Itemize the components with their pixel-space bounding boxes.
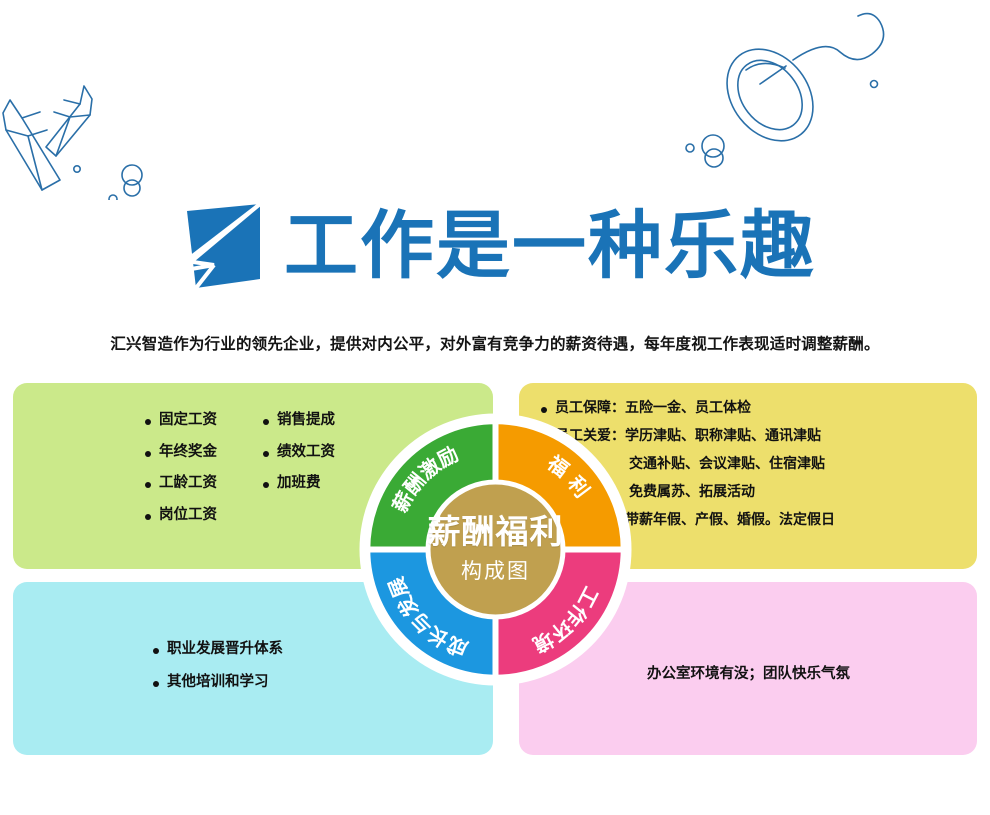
list-item-label: 免费属苏、拓展活动	[629, 485, 755, 499]
list-item: 固定工资	[145, 413, 217, 428]
work-environment-text: 办公室环境有没；团队快乐气氛	[647, 662, 850, 683]
header-decoration	[0, 0, 990, 200]
list-item-label: 职业发展晋升体系	[167, 642, 283, 657]
subtitle-text: 汇兴智造作为行业的领先企业，提供对内公平，对外富有竞争力的薪资待遇，每年度视工作…	[0, 332, 990, 354]
list-item: 年终奖金	[145, 445, 217, 460]
compensation-column-1: 固定工资 年终奖金 工龄工资 岗位工资	[145, 413, 217, 539]
list-item: 销售提成	[263, 413, 335, 428]
bullet-dot-icon	[145, 419, 151, 425]
mouse-icon	[709, 14, 883, 158]
bullet-dot-icon	[263, 419, 269, 425]
list-item-label: 年终奖金	[159, 445, 217, 460]
growth-list: 职业发展晋升体系 其他培训和学习	[153, 642, 283, 707]
compensation-columns: 固定工资 年终奖金 工龄工资 岗位工资 销售提成 绩效工资 加班费	[145, 413, 335, 539]
list-item-label: 五险一金、员工体检	[625, 401, 751, 415]
list-item-label: 交通补贴、会议津贴、住宿津贴	[629, 457, 825, 471]
list-item: 岗位工资	[145, 508, 217, 523]
bubble-icon	[686, 144, 694, 152]
list-item: 工龄工资	[145, 476, 217, 491]
growth-bullets: 职业发展晋升体系 其他培训和学习	[153, 642, 283, 689]
bullet-dot-icon	[263, 451, 269, 457]
list-item-continuation: 免费属苏、拓展活动	[629, 485, 835, 499]
list-item: 绩效工资	[263, 445, 335, 460]
hero-banner: 工作是一种乐趣	[0, 186, 990, 306]
bullet-dot-icon	[145, 514, 151, 520]
list-item-label: 绩效工资	[277, 445, 335, 460]
donut-chart: 薪酬激励 福 利 工作环境 成长与发展 薪酬福利 构成图	[358, 412, 633, 687]
bubble-icon	[871, 81, 878, 88]
bubble-icon	[74, 166, 80, 172]
list-item-label: 学历津贴、职称津贴、通讯津贴	[625, 429, 821, 443]
page-title: 工作是一种乐趣	[284, 209, 816, 283]
list-item-continuation: 交通补贴、会议津贴、住宿津贴	[629, 457, 835, 471]
list-item-label: 岗位工资	[159, 508, 217, 523]
list-item-label: 带薪年假、产假、婚假。法定假日	[625, 513, 835, 527]
donut-center-hub	[431, 485, 561, 615]
compensation-column-2: 销售提成 绩效工资 加班费	[263, 413, 335, 539]
bullet-dot-icon	[153, 681, 159, 687]
pencil-icon	[46, 86, 92, 156]
pencil-icon	[3, 100, 60, 190]
list-item-label: 其他培训和学习	[167, 675, 269, 690]
list-item: 其他培训和学习	[153, 675, 283, 690]
bubble-icon	[122, 165, 142, 185]
bullet-dot-icon	[145, 482, 151, 488]
list-item-label: 工龄工资	[159, 476, 217, 491]
list-item-label: 固定工资	[159, 413, 217, 428]
list-item: 职业发展晋升体系	[153, 642, 283, 657]
bullet-dot-icon	[263, 482, 269, 488]
list-item-label: 加班费	[277, 476, 321, 491]
bubble-icon	[705, 149, 723, 167]
bullet-dot-icon	[153, 648, 159, 654]
list-item: 加班费	[263, 476, 335, 491]
bullet-dot-icon	[145, 451, 151, 457]
hx-diamond-logo-icon	[174, 199, 270, 293]
list-item-label: 销售提成	[277, 413, 335, 428]
bubble-icon	[702, 135, 724, 157]
